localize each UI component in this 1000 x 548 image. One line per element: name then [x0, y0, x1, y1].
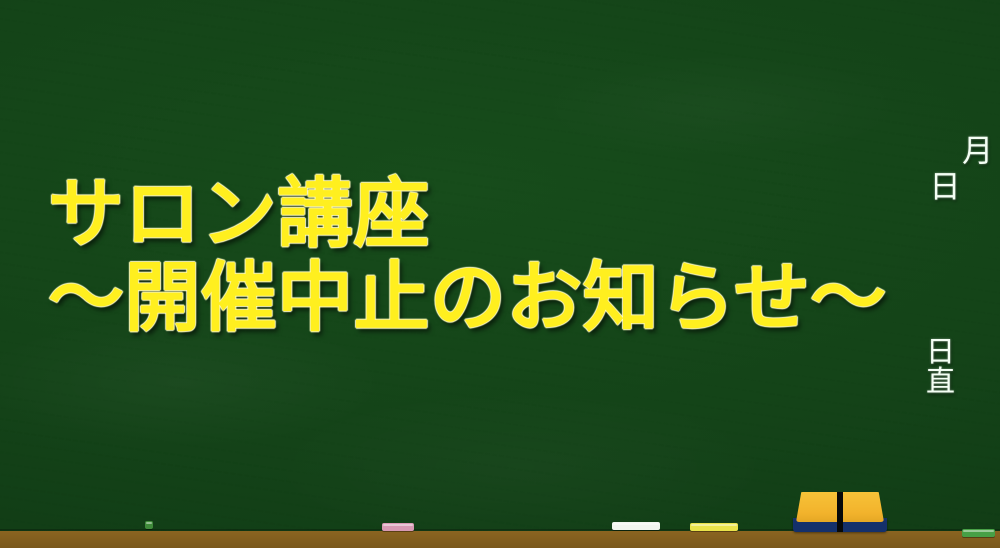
- chalk-white[interactable]: [612, 522, 660, 530]
- chalk-pink[interactable]: [382, 523, 414, 531]
- chalk-green-right[interactable]: [962, 529, 995, 537]
- headline-line-1: サロン講座: [48, 176, 908, 252]
- chalk-yellow[interactable]: [690, 523, 738, 531]
- date-day-label: 日: [925, 170, 958, 254]
- chalkboard-slide: サロン講座 〜開催中止のお知らせ〜 月 日 日直: [0, 0, 1000, 548]
- date-column: 月 日: [925, 134, 990, 254]
- eraser-divider: [837, 492, 843, 532]
- headline-block: サロン講座 〜開催中止のお知らせ〜: [48, 176, 908, 336]
- duty-label: 日直: [923, 336, 953, 414]
- headline-line-2: 〜開催中止のお知らせ〜: [48, 260, 908, 336]
- chalk-ledge: [0, 531, 1000, 548]
- date-month-label: 月: [958, 134, 991, 254]
- chalk-green-left[interactable]: [145, 521, 153, 529]
- blackboard-eraser[interactable]: [793, 492, 887, 532]
